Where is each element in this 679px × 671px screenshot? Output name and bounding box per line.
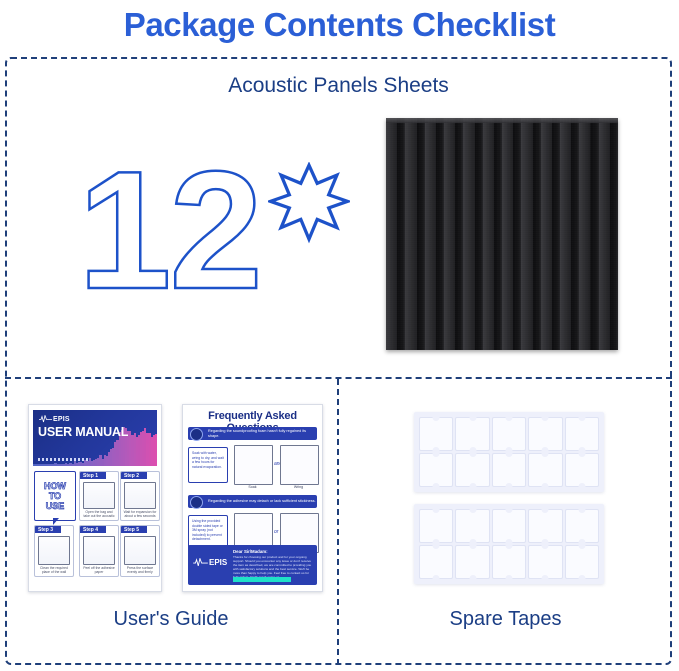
spare-tapes-caption: Spare Tapes <box>339 608 672 631</box>
panel-top-edge <box>386 118 618 123</box>
faq-question-text: Regarding the adhesive may detach or lac… <box>208 499 316 504</box>
step-card: Step 2 Wait for expansion for about a fe… <box>120 471 160 521</box>
wepis-logo-text: EPIS <box>53 416 70 423</box>
tape-square <box>455 509 489 543</box>
tape-square <box>528 453 562 487</box>
step-card: Step 1 Open the bag and take out the aco… <box>79 471 119 521</box>
tape-square <box>455 545 489 579</box>
faq-question-bar: Regarding the adhesive may detach or lac… <box>188 495 317 508</box>
wepis-logo: EPIS <box>39 415 70 423</box>
how-to-use-bubble: HOW TO USE <box>34 471 76 521</box>
how-to-use-line-1: HOW <box>44 482 66 491</box>
faq-footer-body: Thanks for choosing our product and for … <box>233 555 314 579</box>
wave-mark-icon <box>39 415 52 423</box>
tape-square <box>492 545 526 579</box>
wave-mark-icon <box>193 558 208 567</box>
step-caption: Press the surface evenly and firmly <box>123 566 157 575</box>
tape-square <box>565 453 599 487</box>
step-card: Step 5 Press the surface evenly and firm… <box>120 525 160 577</box>
step-illustration <box>124 482 156 509</box>
question-mark-icon <box>190 428 203 441</box>
wepis-logo: EPIS <box>193 558 227 567</box>
faq-illustration <box>280 445 319 485</box>
tape-square <box>419 453 453 487</box>
tape-square <box>492 509 526 543</box>
step-tag: Step 3 <box>35 526 61 533</box>
faq-footer-highlight <box>233 577 291 582</box>
tape-square <box>528 509 562 543</box>
faq-answer-bubble: Soak with water, wring to dry, and wait … <box>188 447 228 483</box>
step-card: Step 3 Clean the required place of the w… <box>34 525 74 577</box>
tape-square <box>492 453 526 487</box>
wepis-logo-text: EPIS <box>209 558 227 567</box>
manual-title: USER MANUAL <box>38 425 128 439</box>
tape-sheet <box>414 412 604 492</box>
step-caption: Peel off the adhesive paper <box>82 566 116 575</box>
manual-header: EPIS USER MANUAL <box>33 410 157 466</box>
tape-square <box>528 545 562 579</box>
step-card: Step 4 Peel off the adhesive paper <box>79 525 119 577</box>
step-caption: Clean the required place of the wall <box>37 566 71 575</box>
asterisk-icon <box>268 162 350 244</box>
step-tag: Step 2 <box>121 472 147 479</box>
step-illustration <box>83 536 115 565</box>
step-tag: Step 4 <box>80 526 106 533</box>
step-caption: Wait for expansion for about a few secon… <box>123 510 157 519</box>
faq-footer: EPIS Dear Sir/Madam: Thanks for choosing… <box>188 545 317 585</box>
tape-square <box>419 509 453 543</box>
how-to-use-line-2: TO <box>49 492 61 501</box>
user-manual-page: EPIS USER MANUAL HOW TO USE Step 1 Open … <box>28 404 162 592</box>
step-tag: Step 1 <box>80 472 106 479</box>
page-title: Package Contents Checklist <box>0 0 679 50</box>
users-guide-images: EPIS USER MANUAL HOW TO USE Step 1 Open … <box>22 404 322 590</box>
users-guide-caption: User's Guide <box>5 608 337 631</box>
tape-square <box>419 417 453 451</box>
panels-heading: Acoustic Panels Sheets <box>5 74 672 98</box>
tape-square <box>528 417 562 451</box>
acoustic-panel-image <box>386 118 618 350</box>
how-to-use-bubble-tail <box>53 518 59 525</box>
tape-sheet <box>414 504 604 584</box>
tape-square <box>565 417 599 451</box>
tape-square <box>565 509 599 543</box>
tape-square <box>419 545 453 579</box>
faq-page: Frequently Asked Questions Regarding the… <box>182 404 323 592</box>
step-caption: Open the bag and take out the acoustic f… <box>82 510 116 519</box>
step-illustration <box>83 482 115 509</box>
tape-square <box>492 417 526 451</box>
panel-count-number: 12 <box>78 146 261 314</box>
faq-question-bar: Regarding the soundproofing foam hasn't … <box>188 427 317 440</box>
step-illustration <box>124 536 156 565</box>
faq-join-word: or <box>274 529 278 535</box>
faq-illustration-caption: Wring <box>280 485 317 489</box>
question-mark-icon <box>190 496 203 509</box>
faq-footer-heading: Dear Sir/Madam: <box>233 549 268 554</box>
panel-body <box>386 118 618 350</box>
faq-question-text: Regarding the soundproofing foam hasn't … <box>208 429 317 439</box>
faq-illustration-caption: Soak <box>234 485 271 489</box>
step-illustration <box>38 536 70 565</box>
spare-tapes-images <box>414 412 606 582</box>
step-tag: Step 5 <box>121 526 147 533</box>
faq-illustration <box>234 445 273 485</box>
tape-square <box>565 545 599 579</box>
panel-count-group: 12 <box>78 168 363 318</box>
how-to-use-line-3: USE <box>46 502 65 511</box>
tape-square <box>455 417 489 451</box>
faq-answer-body: Soak with water, wring to dry, and wait … <box>188 443 317 493</box>
manual-dot-rule <box>38 458 88 461</box>
tape-square <box>455 453 489 487</box>
